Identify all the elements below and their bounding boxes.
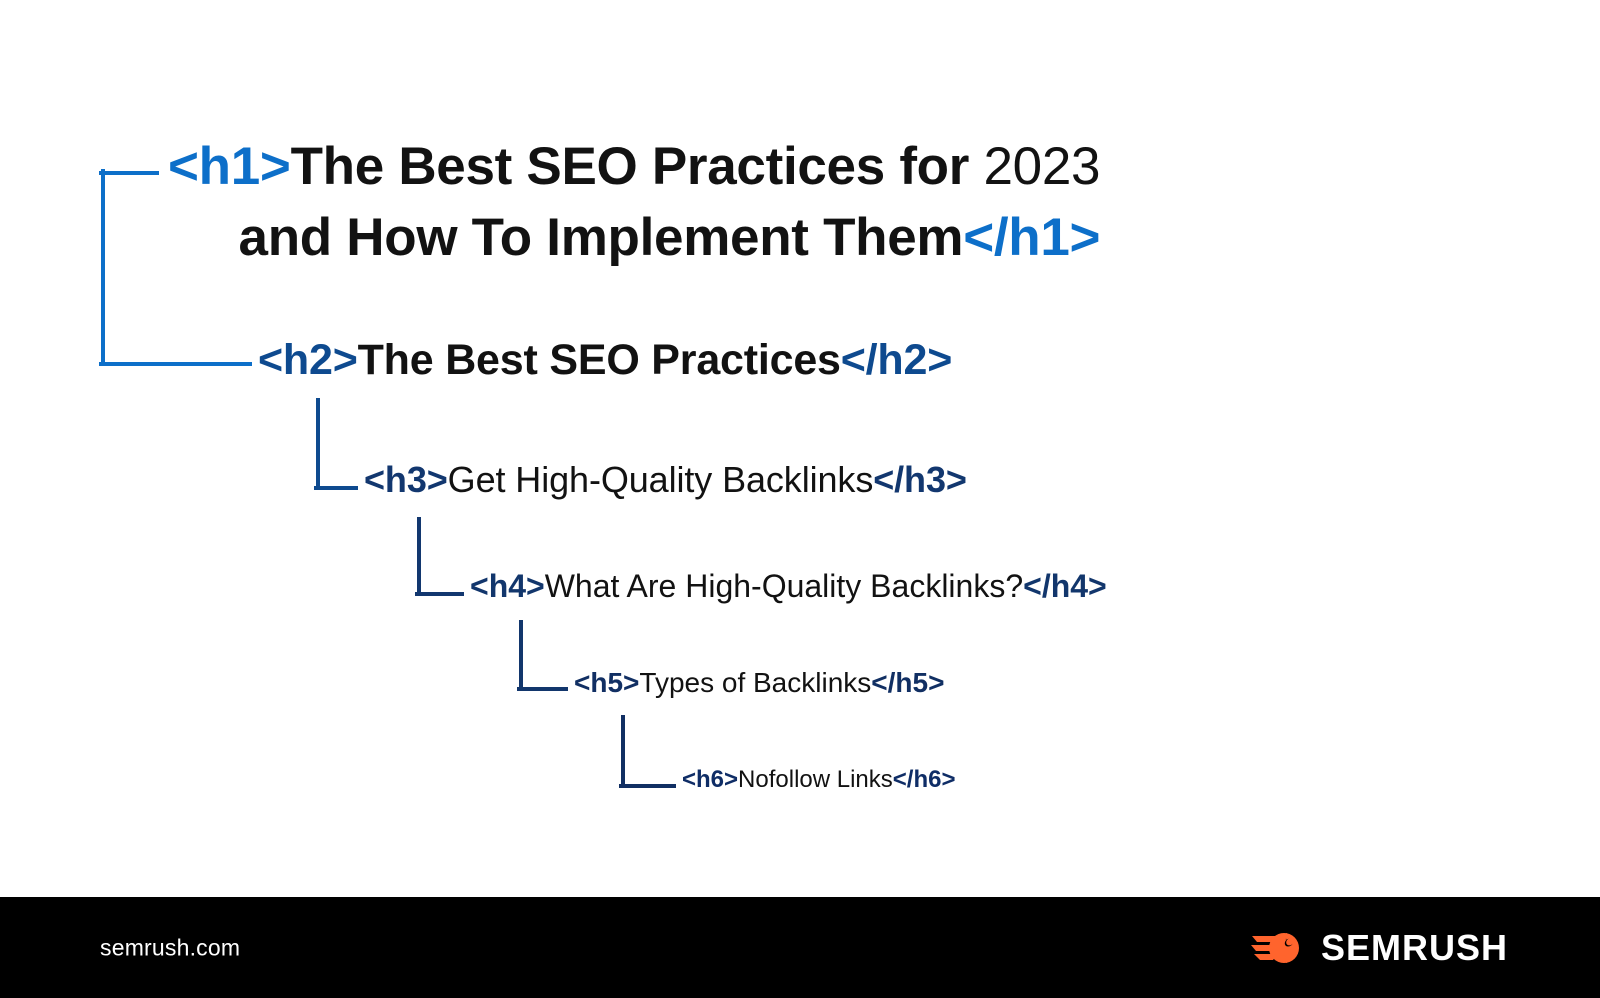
semrush-comet-icon (1251, 927, 1307, 969)
heading-node-h6: <h6>Nofollow Links</h6> (682, 768, 956, 792)
footer-bar: semrush.com SEMRUSH (0, 897, 1600, 998)
footer-domain-label: semrush.com (100, 934, 240, 961)
connector-h3-to-h4 (417, 519, 462, 594)
connector-h2-to-h3 (316, 400, 356, 488)
heading-node-h3: <h3>Get High-Quality Backlinks</h3> (364, 462, 967, 498)
h1-text-line1-bold: The Best SEO Practices for (291, 137, 984, 196)
h5-close-tag: </h5> (871, 667, 944, 698)
h2-close-tag: </h2> (841, 336, 952, 384)
h2-text: The Best SEO Practices (358, 336, 841, 384)
h2-open-tag: <h2> (258, 336, 358, 384)
connector-h4-to-h5 (519, 622, 566, 689)
h3-close-tag: </h3> (873, 459, 967, 500)
semrush-wordmark: SEMRUSH (1321, 927, 1508, 969)
h6-close-tag: </h6> (893, 766, 956, 793)
heading-node-h1: <h1>The Best SEO Practices for 2023 and … (168, 140, 1100, 264)
h6-text: Nofollow Links (738, 766, 893, 793)
heading-node-h5: <h5>Types of Backlinks</h5> (574, 669, 944, 697)
h4-text: What Are High-Quality Backlinks? (545, 568, 1023, 604)
h1-text-line2: and How To Implement Them (239, 208, 964, 267)
hierarchy-connectors (0, 0, 1600, 897)
h1-close-tag: </h1> (963, 208, 1100, 267)
h5-text: Types of Backlinks (639, 667, 871, 698)
h3-text: Get High-Quality Backlinks (448, 459, 874, 500)
h6-open-tag: <h6> (682, 766, 738, 793)
heading-node-h2: <h2>The Best SEO Practices</h2> (258, 339, 952, 382)
semrush-logo: SEMRUSH (1251, 927, 1508, 969)
h5-open-tag: <h5> (574, 667, 639, 698)
diagram-canvas: <h1>The Best SEO Practices for 2023 and … (0, 0, 1600, 897)
h4-close-tag: </h4> (1023, 568, 1107, 604)
h1-open-tag: <h1> (168, 137, 291, 196)
heading-node-h4: <h4>What Are High-Quality Backlinks?</h4… (470, 570, 1107, 602)
connector-h5-to-h6 (621, 717, 674, 786)
h1-text-year: 2023 (984, 137, 1101, 196)
h4-open-tag: <h4> (470, 568, 545, 604)
h3-open-tag: <h3> (364, 459, 448, 500)
